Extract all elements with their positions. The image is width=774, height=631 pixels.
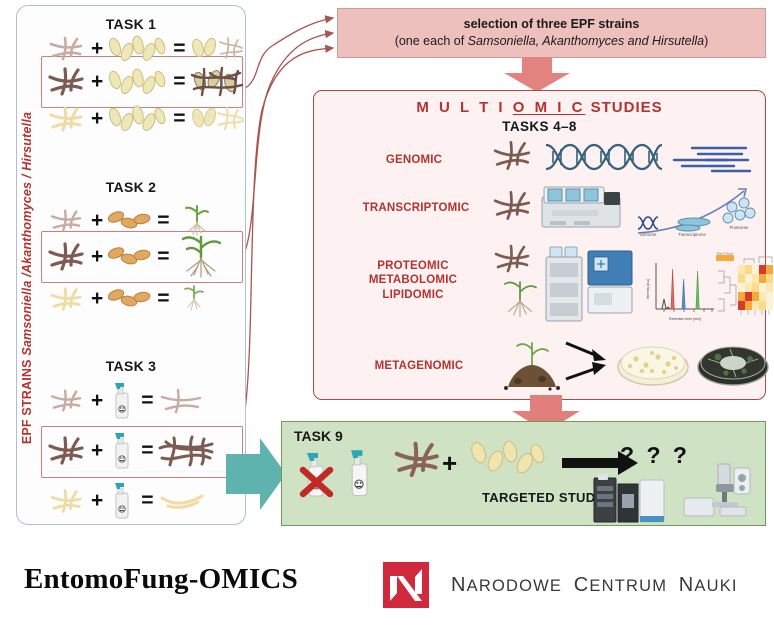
- hyphae-dark-icon: [492, 189, 534, 223]
- omics-label-lipidomic: LIPIDOMIC: [328, 288, 498, 302]
- task-2-title: TASK 2: [17, 179, 245, 195]
- plus-sign: +: [91, 70, 103, 94]
- spray-bottle-crossed-out-icon: [298, 450, 336, 504]
- task9-panel: TASK 9 + ? ? ? TARGETED STUDI: [281, 421, 766, 526]
- plus-sign: +: [91, 389, 103, 413]
- task-1-row-3: + =: [47, 96, 233, 142]
- down-arrow-to-multiomic: [500, 57, 574, 93]
- equals-sign: =: [173, 107, 185, 131]
- seeds-icon: [107, 286, 153, 312]
- ncn-name-auki: AUKI: [694, 577, 737, 595]
- ncn-name-entrum: ENTRUM: [589, 577, 667, 595]
- hyphae-dark-icon: [492, 139, 534, 173]
- chromatogram-y-label: Intensity [a.u.]: [646, 279, 650, 300]
- hyphae-yellow-icon: [47, 487, 87, 515]
- curve-label-proteome: Proteome: [729, 225, 749, 230]
- plus-sign: +: [91, 287, 103, 311]
- vlabel-species: Samsoniella /Akanthomyces / Hirsutella: [20, 112, 34, 356]
- hyphae-pale-icon: [47, 207, 87, 235]
- seedling-large-icon: [174, 234, 228, 280]
- larvae-group-icon: [107, 67, 169, 97]
- arrow-right-icon: [564, 339, 616, 389]
- task-3-row-2: + =: [47, 428, 233, 474]
- chromatogram-chart-icon: Intensity [a.u.] Retention time [min]: [644, 259, 716, 323]
- ncn-name-n2: N: [679, 574, 695, 596]
- hyphae-dark-icon: [47, 66, 87, 98]
- plus-sign: +: [91, 37, 103, 61]
- selection-line-2-pre: (one each of: [395, 34, 468, 48]
- hyphae-dark-dense-icon: [158, 434, 216, 468]
- lc-ms-instrument-icon: [592, 472, 666, 524]
- task-2-row-3: + =: [47, 276, 233, 322]
- genome-transcriptome-proteome-curve-icon: Genome Transcriptome Proteome: [632, 185, 762, 237]
- hyphae-dark-icon: [492, 243, 534, 275]
- larvae-overgrown-dark-icon: [190, 65, 248, 99]
- hyphae-pale-icon: [47, 387, 87, 415]
- seedling-tiny-icon: [174, 282, 214, 316]
- selection-line-2: (one each of Samsoniella, Akanthomyces a…: [395, 33, 709, 50]
- hyphae-dark-icon: [47, 435, 87, 467]
- petri-dish-dark-icon: [696, 339, 770, 389]
- plus-sign: +: [91, 489, 103, 513]
- hyphae-yellow-icon: [47, 285, 87, 313]
- selection-line-1: selection of three EPF strains: [464, 16, 640, 33]
- multiomic-title-part2: O M I C: [513, 99, 586, 116]
- petri-dish-light-icon: [616, 339, 690, 389]
- equals-sign: =: [141, 389, 153, 413]
- teal-arrow-to-task9: [226, 432, 288, 516]
- omics-label-proteomic: PROTEOMIC: [328, 259, 498, 273]
- hyphae-yellow-sparse-icon: [158, 488, 206, 514]
- omics-label-genomic: GENOMIC: [354, 153, 474, 167]
- task-2-row-2: + =: [47, 234, 233, 280]
- selection-line-2-species: Samsoniella, Akanthomyces and Hirsutella: [468, 34, 704, 48]
- equals-sign: =: [141, 489, 153, 513]
- ncn-logo-block: NARODOWE CENTRUM NAUKI: [383, 562, 738, 608]
- ncn-funder-name: NARODOWE CENTRUM NAUKI: [451, 574, 738, 597]
- multiomic-tasks-label: TASKS 4–8: [314, 119, 765, 134]
- multiomic-title-part3: STUDIES: [585, 99, 662, 116]
- chromatogram-x-label: Retention time [min]: [669, 317, 701, 321]
- heatmap-legend-label: Row Z-Score: [717, 252, 734, 256]
- equals-sign: =: [157, 209, 169, 233]
- spray-bottle-icon: [107, 431, 137, 471]
- epf-strains-panel: EPF STRAINS Samsoniella /Akanthomyces / …: [16, 5, 246, 525]
- hyphae-yellow-icon: [47, 104, 87, 134]
- hyphae-pale-sparse-icon: [158, 386, 206, 416]
- omics-label-metabolomic: METABOLOMIC: [328, 273, 498, 287]
- spray-bottle-icon: [342, 446, 376, 502]
- larvae-group-icon: [107, 104, 169, 134]
- soil-plant-icon: [502, 335, 562, 391]
- spray-bottle-icon: [107, 481, 137, 521]
- plus-sign: +: [91, 107, 103, 131]
- omics-label-transcriptomic: TRANSCRIPTOMIC: [326, 201, 506, 215]
- seedling-icon: [496, 277, 544, 321]
- ms-instrument-icon: [586, 249, 634, 315]
- epf-strains-vertical-label: EPF STRAINS Samsoniella /Akanthomyces / …: [15, 88, 39, 468]
- equals-sign: =: [157, 287, 169, 311]
- footer: EntomoFung-OMICS NARODOWE CENTRUM NAUKI: [0, 545, 774, 631]
- curve-label-genome: Genome: [640, 232, 657, 237]
- plus-sign: +: [91, 439, 103, 463]
- selection-box: selection of three EPF strains (one each…: [337, 8, 766, 58]
- task-3-row-3: + =: [47, 478, 233, 524]
- seeds-icon: [107, 244, 153, 270]
- diagram-canvas: EPF STRAINS Samsoniella /Akanthomyces / …: [0, 0, 774, 631]
- plus-sign: +: [91, 209, 103, 233]
- lc-column-icon: [542, 243, 586, 325]
- omics-label-proteomic-group: PROTEOMIC METABOLOMIC LIPIDOMIC: [328, 259, 498, 302]
- dna-helix-icon: [544, 141, 664, 173]
- ncn-name-arodowe: ARODOWE: [467, 577, 562, 595]
- hyphae-dark-icon: [392, 440, 444, 480]
- plus-sign: +: [91, 245, 103, 269]
- task-3-title: TASK 3: [17, 358, 245, 374]
- hyphae-dark-icon: [47, 241, 87, 273]
- sequencer-instrument-icon: [540, 183, 638, 231]
- equals-sign: =: [173, 70, 185, 94]
- heatmap-chart-icon: Row Z-Score: [714, 253, 774, 323]
- equals-sign: =: [157, 245, 169, 269]
- seeds-icon: [107, 208, 153, 234]
- plus-sign: +: [442, 448, 457, 479]
- task-3-row-1: + =: [47, 378, 233, 424]
- multiomic-studies-panel: M U L T I O M I C STUDIES TASKS 4–8 GENO…: [313, 90, 766, 400]
- ncn-name-n1: N: [451, 574, 467, 596]
- equals-sign: =: [173, 37, 185, 61]
- ncn-name-c: C: [574, 574, 590, 596]
- selection-line-2-post: ): [704, 34, 708, 48]
- sequence-reads-icon: [672, 145, 752, 173]
- multiomic-title: M U L T I O M I C STUDIES: [314, 99, 765, 116]
- task9-title: TASK 9: [294, 428, 343, 444]
- equals-sign: =: [141, 439, 153, 463]
- multiomic-title-part1: M U L T I: [416, 99, 512, 116]
- larvae-group-icon: [468, 440, 548, 482]
- omics-label-metagenomic: METAGENOMIC: [344, 359, 494, 373]
- project-title: EntomoFung-OMICS: [24, 563, 298, 596]
- ncn-logo-icon: [383, 562, 429, 608]
- curve-label-transcriptome: Transcriptome: [678, 232, 706, 237]
- microscope-icon: [680, 458, 756, 520]
- larvae-with-yellow-hyphae-icon: [190, 104, 246, 134]
- spray-bottle-icon: [107, 381, 137, 421]
